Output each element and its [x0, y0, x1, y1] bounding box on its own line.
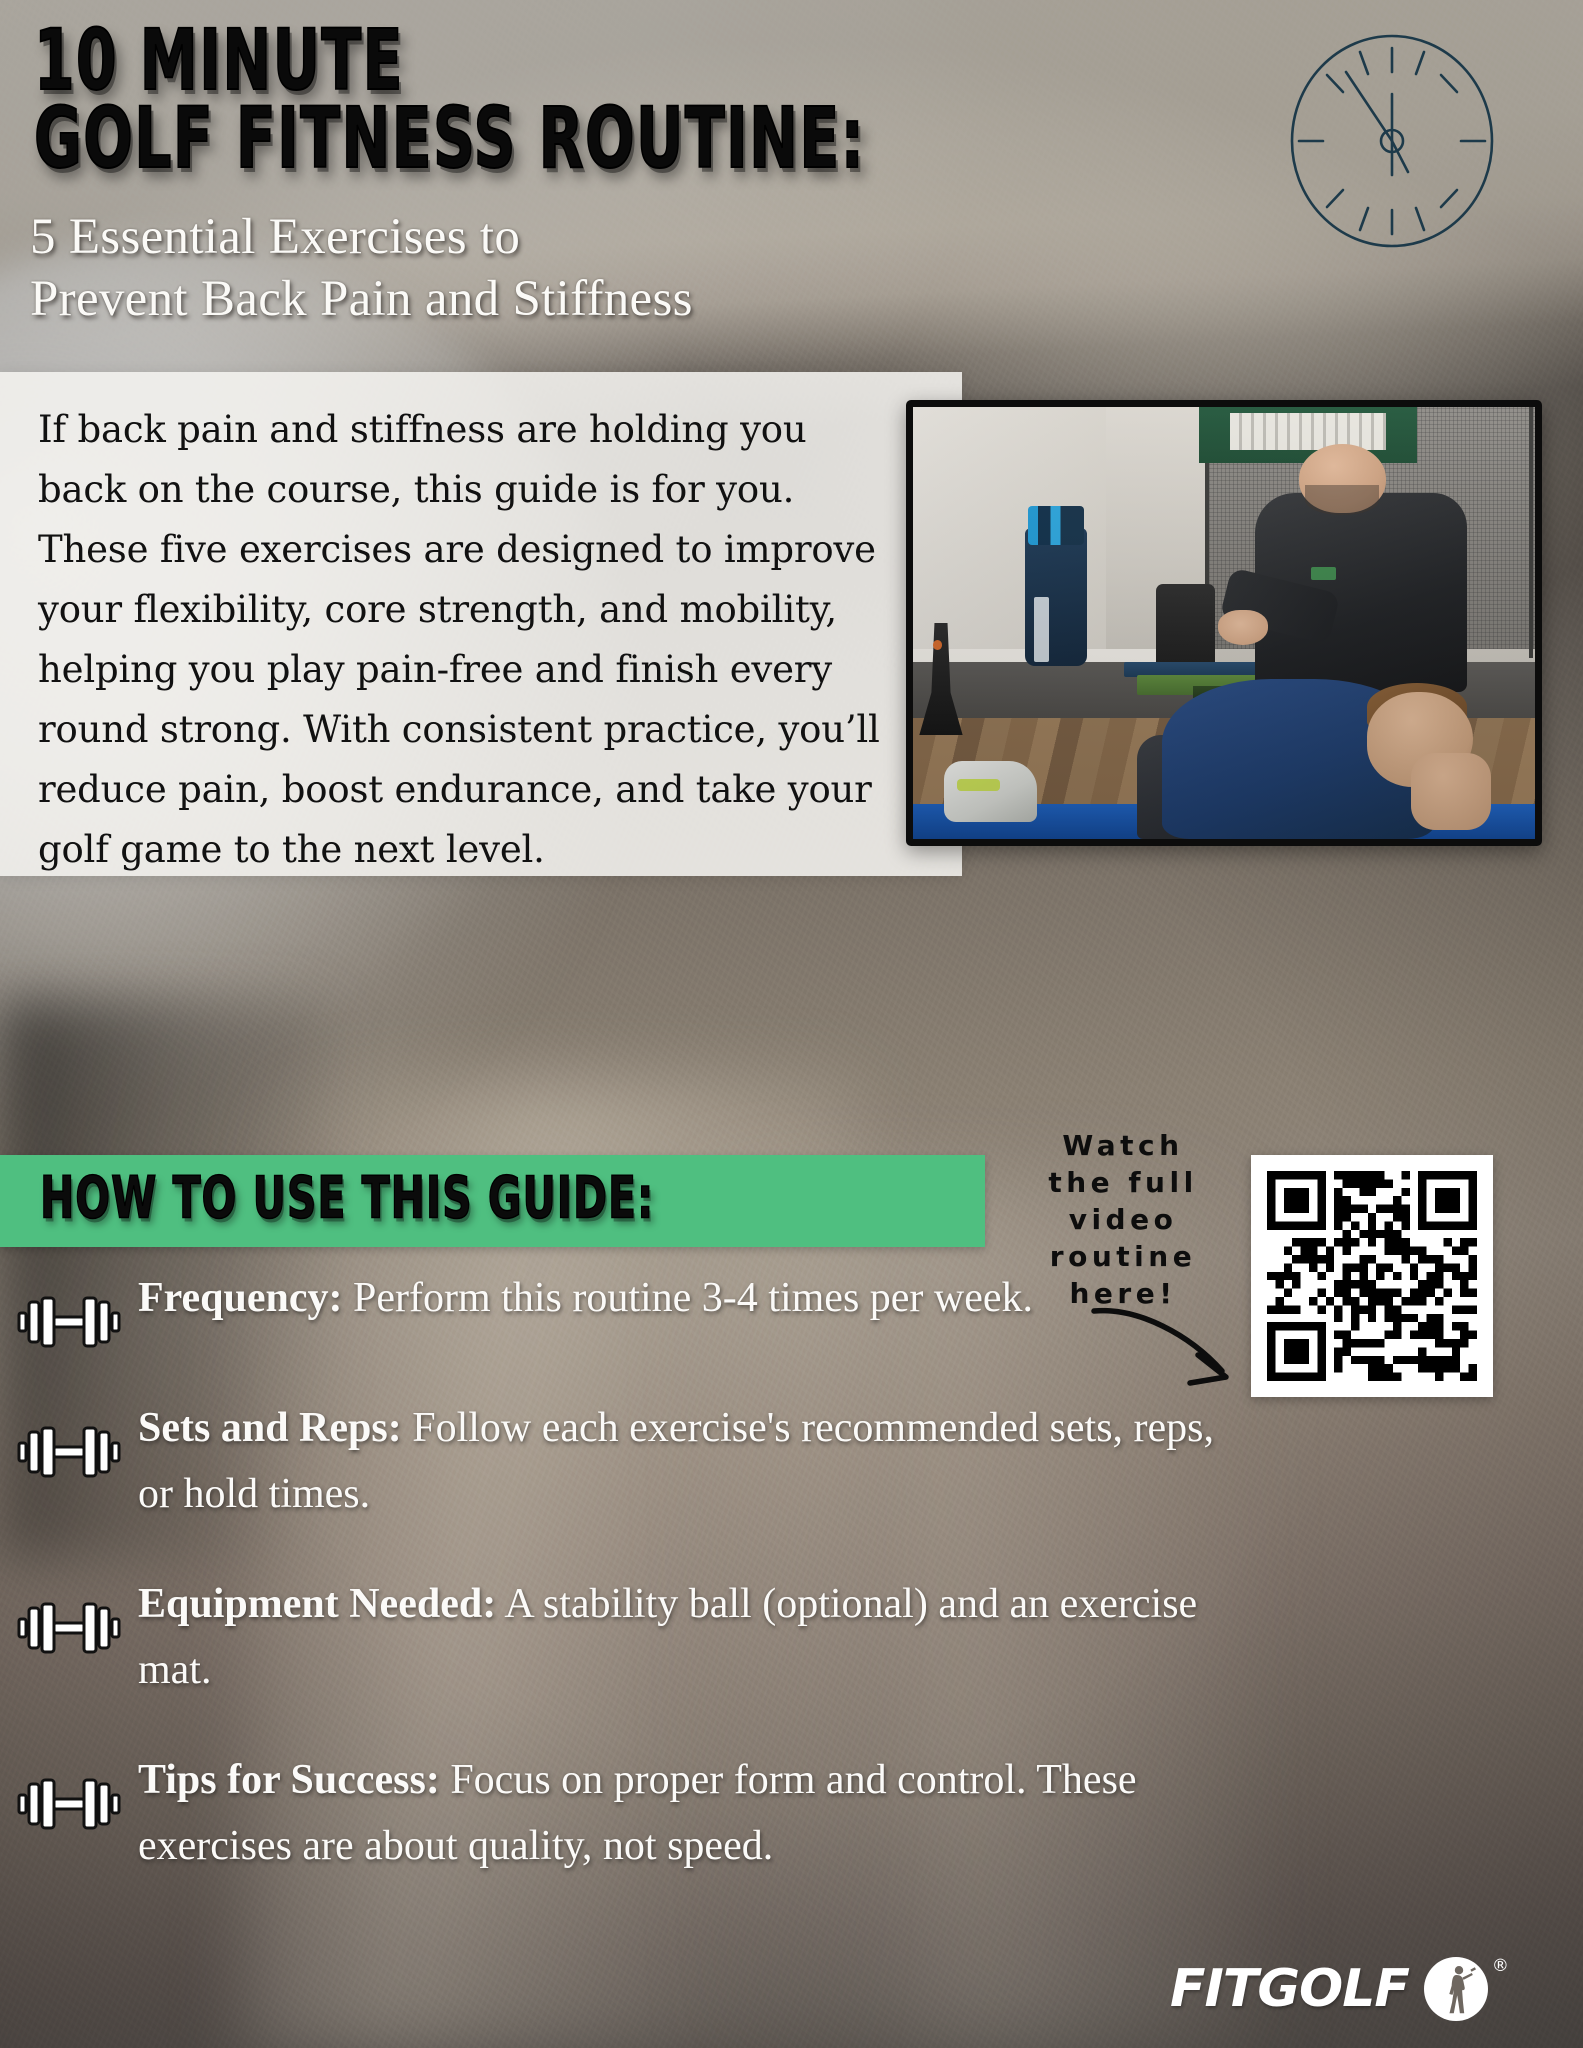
list-item-label: Tips for Success: — [138, 1757, 440, 1803]
list-item-text: Equipment Needed: A stability ball (opti… — [138, 1571, 1260, 1703]
list-item-label: Equipment Needed: — [138, 1581, 496, 1627]
intro-panel: If back pain and stiffness are holding y… — [0, 372, 962, 876]
guide-list: Frequency: Perform this routine 3-4 time… — [0, 1265, 1260, 1923]
dumbbell-icon — [0, 1747, 138, 1833]
brand-wordmark: FITGOLF — [1170, 1959, 1409, 2019]
header: 10 MINUTE GOLF FITNESS ROUTINE: 5 Essent… — [0, 0, 1583, 370]
qr-code-icon[interactable] — [1267, 1171, 1477, 1381]
registered-trademark: ® — [1492, 1956, 1509, 1976]
list-item: Tips for Success: Focus on proper form a… — [0, 1747, 1260, 1879]
dumbbell-icon — [0, 1395, 138, 1481]
list-item: Equipment Needed: A stability ball (opti… — [0, 1571, 1260, 1703]
list-item-label: Frequency: — [138, 1275, 343, 1321]
list-item-body: Perform this routine 3-4 times per week. — [343, 1275, 1034, 1321]
qr-code-card[interactable] — [1251, 1155, 1493, 1397]
fitgolf-logo: FITGOLF ® — [1170, 1950, 1555, 2028]
list-item: Frequency: Perform this routine 3-4 time… — [0, 1265, 1260, 1351]
exercise-photo — [906, 400, 1542, 846]
dumbbell-icon — [0, 1265, 138, 1351]
page-subtitle: 5 Essential Exercises to Prevent Back Pa… — [30, 206, 1230, 330]
title-block: 10 MINUTE GOLF FITNESS ROUTINE: — [34, 22, 1214, 150]
list-item: Sets and Reps: Follow each exercise's re… — [0, 1395, 1260, 1527]
list-item-text: Frequency: Perform this routine 3-4 time… — [138, 1265, 1260, 1331]
dumbbell-icon — [0, 1571, 138, 1657]
list-item-label: Sets and Reps: — [138, 1405, 402, 1451]
photo-shading — [913, 407, 1535, 839]
page-title: 10 MINUTE GOLF FITNESS ROUTINE: — [34, 22, 1143, 178]
how-to-use-heading: HOW TO USE THIS GUIDE: — [40, 1168, 654, 1230]
list-item-text: Sets and Reps: Follow each exercise's re… — [138, 1395, 1260, 1527]
intro-paragraph: If back pain and stiffness are holding y… — [38, 400, 900, 880]
clock-icon — [1282, 30, 1502, 252]
list-item-text: Tips for Success: Focus on proper form a… — [138, 1747, 1260, 1879]
golfer-silhouette-icon — [1423, 1956, 1489, 2022]
how-to-use-banner: HOW TO USE THIS GUIDE: — [0, 1155, 985, 1247]
